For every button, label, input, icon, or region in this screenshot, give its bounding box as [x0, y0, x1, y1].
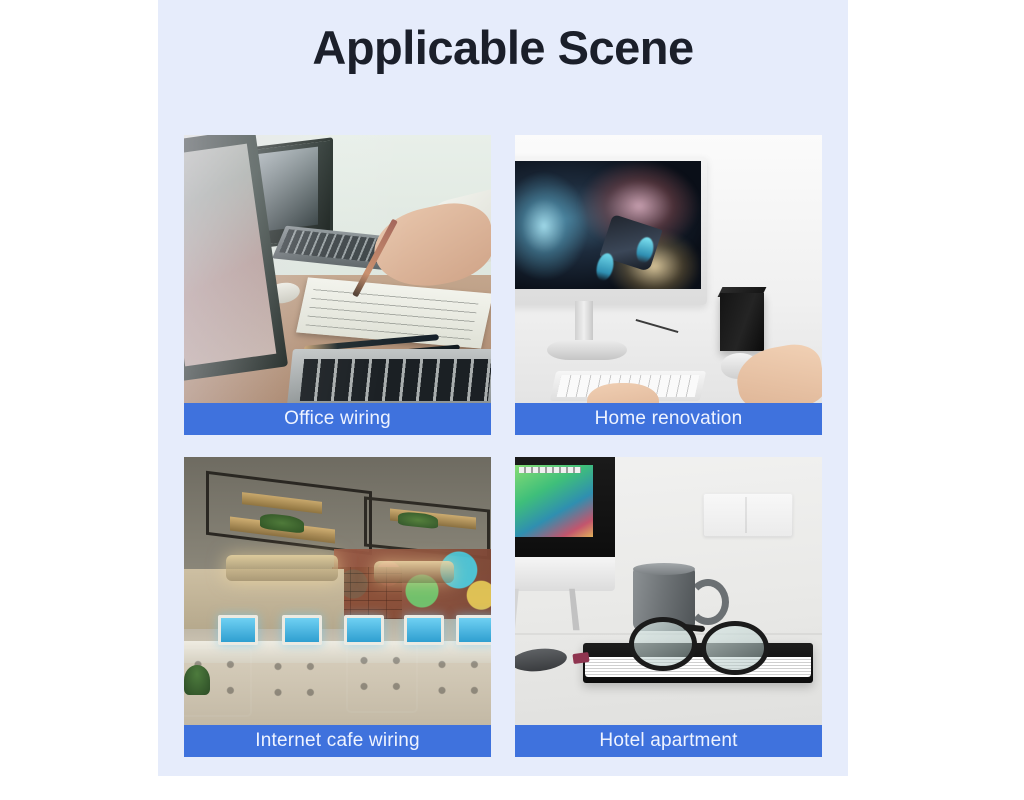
scene-caption-office-wiring: Office wiring	[184, 403, 491, 435]
cafe-monitor	[282, 615, 322, 645]
scene-caption-internet-cafe-wiring: Internet cafe wiring	[184, 725, 491, 757]
armchair-dark	[346, 643, 418, 713]
scene-card-office-wiring[interactable]: Office wiring	[184, 135, 491, 435]
scene-card-hotel-apartment[interactable]: Hotel apartment	[515, 457, 822, 757]
eyeglasses-right-lens	[701, 621, 769, 675]
monitor-screen	[515, 465, 593, 537]
chandelier-right	[374, 561, 454, 583]
monitor-screen	[515, 161, 701, 289]
floor-plant	[184, 665, 210, 695]
photo-haze-overlay	[184, 135, 491, 403]
cafe-monitor	[218, 615, 258, 645]
monitor-stand	[515, 589, 580, 631]
monitor-foot	[547, 340, 627, 360]
armchair-light	[424, 647, 491, 717]
cafe-monitor	[344, 615, 384, 645]
notebook-pages	[585, 657, 811, 677]
cafe-monitor	[404, 615, 444, 645]
black-box-device	[720, 293, 764, 351]
internet-cafe-wiring-photo	[184, 457, 491, 725]
cafe-monitor	[456, 615, 491, 645]
cable	[636, 319, 679, 333]
scene-caption-hotel-apartment: Hotel apartment	[515, 725, 822, 757]
wall-switch-plate	[703, 493, 793, 537]
page-root: Applicable Scene	[0, 0, 1024, 800]
nebula-blue	[515, 171, 589, 281]
monitor-chin	[515, 557, 615, 591]
chandelier-left	[226, 555, 338, 581]
mug-rim	[633, 563, 695, 575]
applicable-scene-panel: Applicable Scene	[158, 0, 848, 776]
scene-caption-home-renovation: Home renovation	[515, 403, 822, 435]
mouse-icon	[515, 646, 568, 674]
office-wiring-photo	[184, 135, 491, 403]
page-title: Applicable Scene	[158, 22, 848, 74]
armchair-light	[260, 649, 332, 719]
screen-toolbar	[519, 467, 581, 473]
hotel-apartment-photo	[515, 457, 822, 725]
scene-grid: Office wiring	[184, 135, 822, 757]
home-renovation-photo	[515, 135, 822, 403]
monitor-neck	[575, 301, 593, 345]
scene-card-home-renovation[interactable]: Home renovation	[515, 135, 822, 435]
scene-card-internet-cafe-wiring[interactable]: Internet cafe wiring	[184, 457, 491, 757]
